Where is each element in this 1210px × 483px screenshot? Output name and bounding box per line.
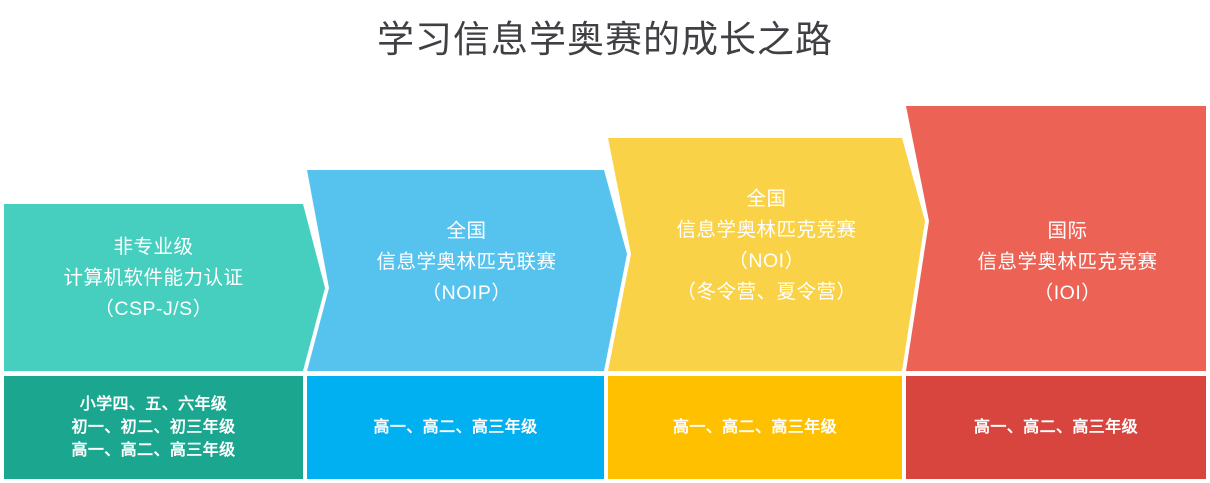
chevron-step-noi[interactable] [608,138,925,371]
chevron-staircase: 非专业级 计算机软件能力认证 （CSP-J/S） 全国 信息学奥林匹克联赛 （N… [0,0,1210,483]
footer-step-noip[interactable] [307,376,604,479]
diagram-canvas: 学习信息学奥赛的成长之路 非专业级 计算机软件能力认证 （CSP-J/S） 全国… [0,0,1210,483]
footer-step-ioi[interactable] [906,376,1206,479]
chevron-step-noip[interactable] [307,170,627,371]
chevron-step-ioi[interactable] [906,106,1206,371]
footer-step-csp[interactable] [4,376,303,479]
chevron-shapes [0,0,1210,483]
chevron-step-csp[interactable] [4,204,325,371]
footer-step-noi[interactable] [608,376,902,479]
